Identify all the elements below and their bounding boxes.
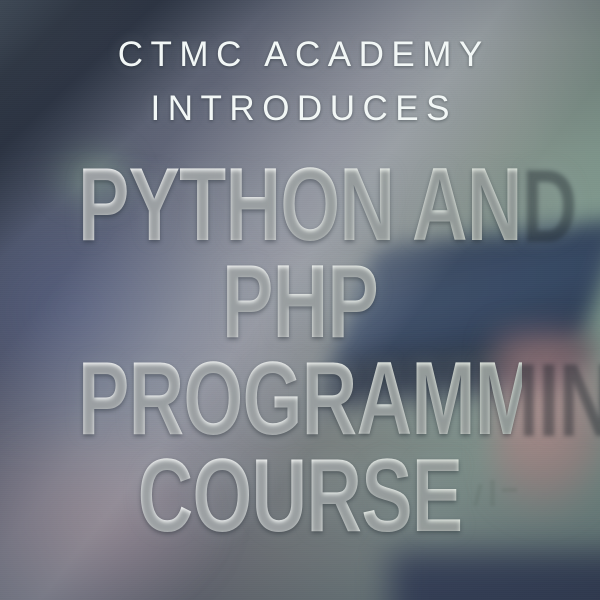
title-line-programming: PROGRAMMING — [78, 351, 522, 448]
kicker-line-2: INTRODUCES — [0, 82, 600, 135]
title-line-python-and: PYTHON AND — [78, 157, 522, 254]
kicker-line-1: CTMC ACADEMY — [0, 28, 600, 81]
title-line-course: COURSE — [78, 448, 522, 545]
poster-canvas: CTMC ACADEMY INTRODUCES PYTHON AND PHP P… — [0, 0, 600, 600]
title-block: PYTHON AND PHP PROGRAMMING COURSE — [0, 157, 600, 545]
poster-content: CTMC ACADEMY INTRODUCES PYTHON AND PHP P… — [0, 0, 600, 600]
title-line-php: PHP — [78, 254, 522, 351]
